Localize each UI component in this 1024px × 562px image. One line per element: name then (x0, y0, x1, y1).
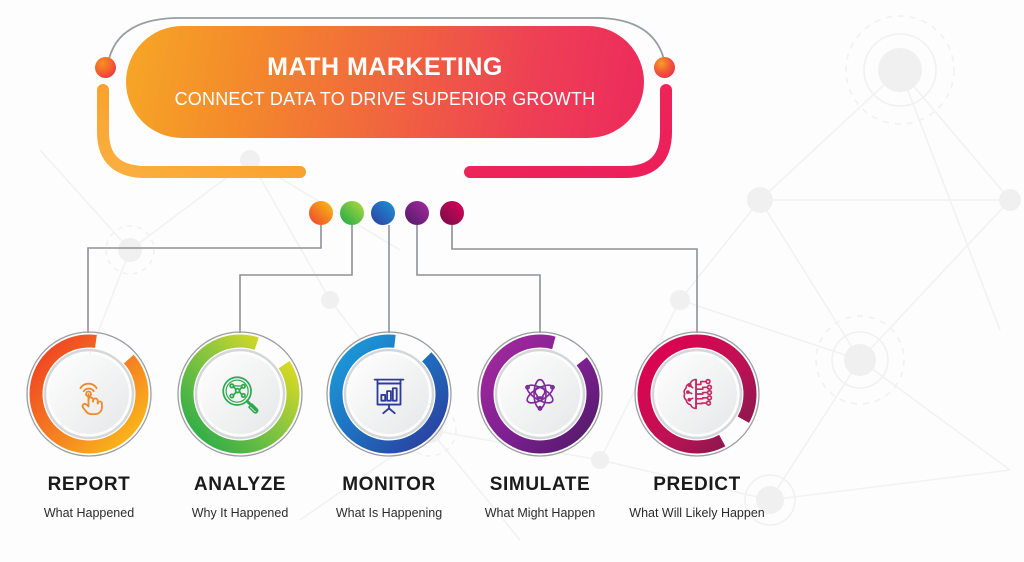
infographic-canvas: MATH MARKETING CONNECT DATA TO DRIVE SUP… (0, 0, 1024, 562)
pin-monitor-dot (371, 201, 395, 225)
header-left-dot (95, 57, 116, 78)
pin-dot-group (309, 201, 464, 225)
pin-analyze-dot (340, 201, 364, 225)
pin-report-dot (309, 201, 333, 225)
pin-dots-row (0, 0, 1024, 562)
pin-simulate-dot (405, 201, 429, 225)
header-right-dot (654, 57, 675, 78)
pin-predict-dot (440, 201, 464, 225)
